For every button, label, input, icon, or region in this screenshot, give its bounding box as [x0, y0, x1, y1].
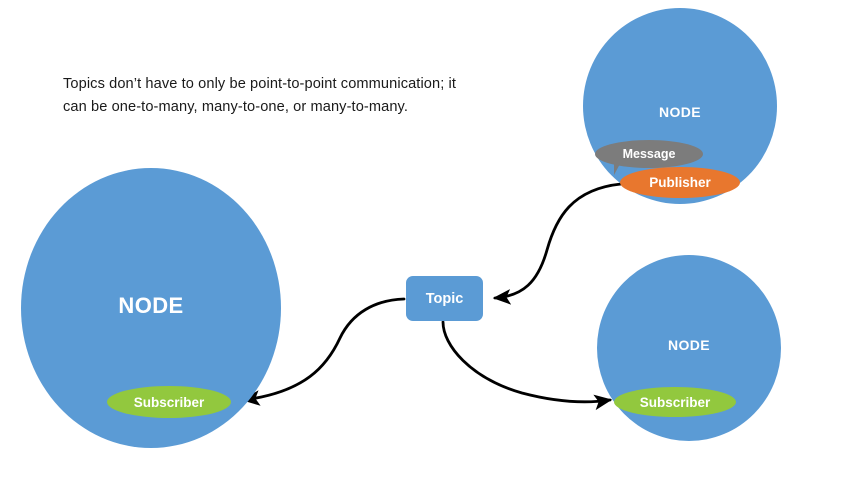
caption-text: Topics don’t have to only be point-to-po… — [63, 73, 483, 119]
topic-label: Topic — [426, 291, 464, 307]
node-bottom-right-label: NODE — [597, 337, 781, 353]
publisher[interactable]: Publisher — [620, 167, 740, 198]
node-top-right-label: NODE — [583, 104, 777, 120]
message-label: Message — [623, 147, 676, 161]
subscriber-bottom-right[interactable]: Subscriber — [614, 387, 736, 417]
message-bubble-tail-icon — [614, 162, 626, 175]
subscriber-left-label: Subscriber — [134, 395, 205, 410]
node-left-label: NODE — [21, 293, 281, 319]
message-bubble[interactable]: Message — [595, 140, 703, 168]
subscriber-left[interactable]: Subscriber — [107, 386, 231, 418]
edge-topic-to-bottom-right-subscriber — [443, 322, 610, 402]
subscriber-bottom-right-label: Subscriber — [640, 395, 711, 410]
publisher-label: Publisher — [649, 175, 711, 190]
edge-publisher-to-topic — [495, 184, 621, 298]
diagram-canvas: Topics don’t have to only be point-to-po… — [0, 0, 854, 480]
topic-box[interactable]: Topic — [406, 276, 483, 321]
